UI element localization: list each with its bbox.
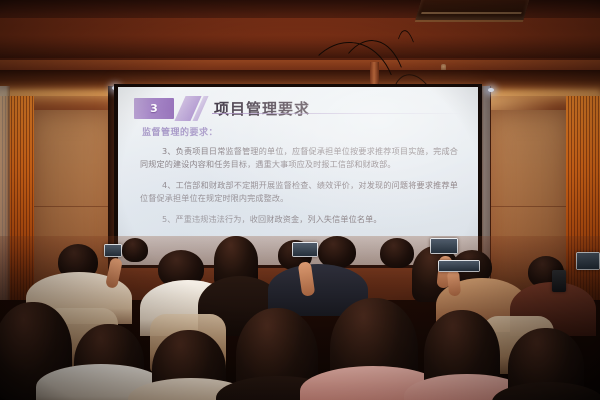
slide-header: 3 项目管理要求 [118, 95, 478, 121]
seated-audience [0, 236, 600, 400]
slide-number: 3 [134, 98, 174, 119]
slide-paragraph: 4、工信部和财政部不定期开展监督检查、绩效评价，对发现的问题将要求推荐单位督促承… [140, 179, 458, 205]
phone-screen [431, 239, 457, 253]
phone-screen [105, 245, 121, 256]
smartphone-camera[interactable] [430, 238, 458, 254]
presentation-room-photo: 3 项目管理要求 监督管理的要求： 3、负责项目日常监督管理的单位，应督促承担单… [0, 0, 600, 400]
slide-title: 项目管理要求 [214, 95, 310, 121]
slide-body: 3、负责项目日常监督管理的单位，应督促承担单位按要求推荐项目实施，完成合同规定的… [140, 145, 458, 234]
audience-arm [447, 270, 461, 297]
smartphone-camera[interactable] [552, 270, 566, 292]
phone-screen [577, 253, 599, 269]
slide-title-underline [212, 113, 464, 114]
panel-seam [486, 206, 572, 207]
panel-seam [28, 206, 114, 207]
phone-screen [439, 261, 479, 271]
smartphone-camera[interactable] [576, 252, 600, 270]
slide-paragraph: 3、负责项目日常监督管理的单位，应督促承担单位按要求推荐项目实施，完成合同规定的… [140, 145, 458, 171]
smartphone-camera[interactable] [438, 260, 480, 272]
ceiling-spotlight [488, 88, 494, 92]
smartphone-camera[interactable] [292, 242, 318, 257]
slide-subtitle: 监督管理的要求： [142, 125, 218, 138]
slide-paragraph: 5、严重违规违法行为，收回财政资金，列入失信单位名单。 [140, 213, 458, 226]
slide-number-badge: 3 [134, 98, 174, 119]
audience-head [380, 238, 414, 268]
smartphone-camera[interactable] [104, 244, 122, 257]
phone-screen [293, 243, 317, 256]
ceiling-beam [0, 18, 600, 58]
audience-head [122, 238, 148, 262]
ceiling-air-vent [415, 0, 529, 22]
vent-slat [421, 12, 522, 14]
